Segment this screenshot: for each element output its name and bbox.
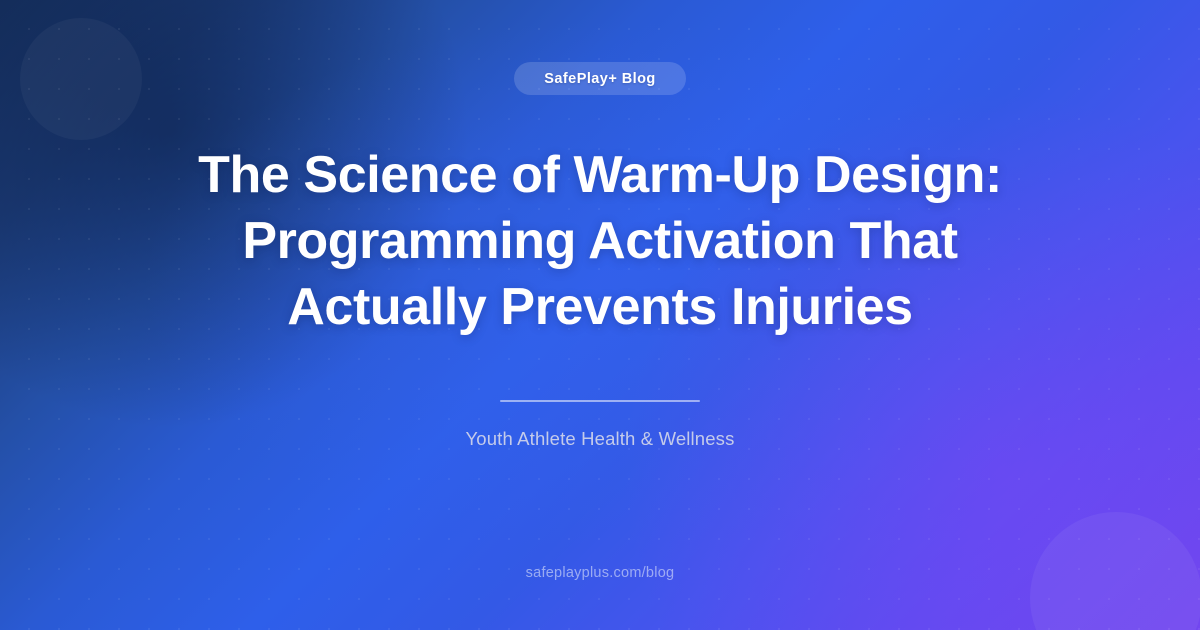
banner-content: SafePlay+ Blog The Science of Warm-Up De… [0, 0, 1200, 630]
title-divider [500, 400, 700, 402]
page-title-line-3: Actually Prevents Injuries [170, 275, 1030, 341]
blog-hero-banner: SafePlay+ Blog The Science of Warm-Up De… [0, 0, 1200, 630]
page-title: The Science of Warm-Up Design: Programmi… [170, 143, 1030, 340]
page-subtitle: Youth Athlete Health & Wellness [466, 428, 735, 450]
page-title-line-2: Programming Activation That [170, 209, 1030, 275]
footer-site-url: safeplayplus.com/blog [0, 565, 1200, 581]
blog-badge[interactable]: SafePlay+ Blog [514, 62, 685, 95]
page-title-line-1: The Science of Warm-Up Design: [170, 143, 1030, 209]
